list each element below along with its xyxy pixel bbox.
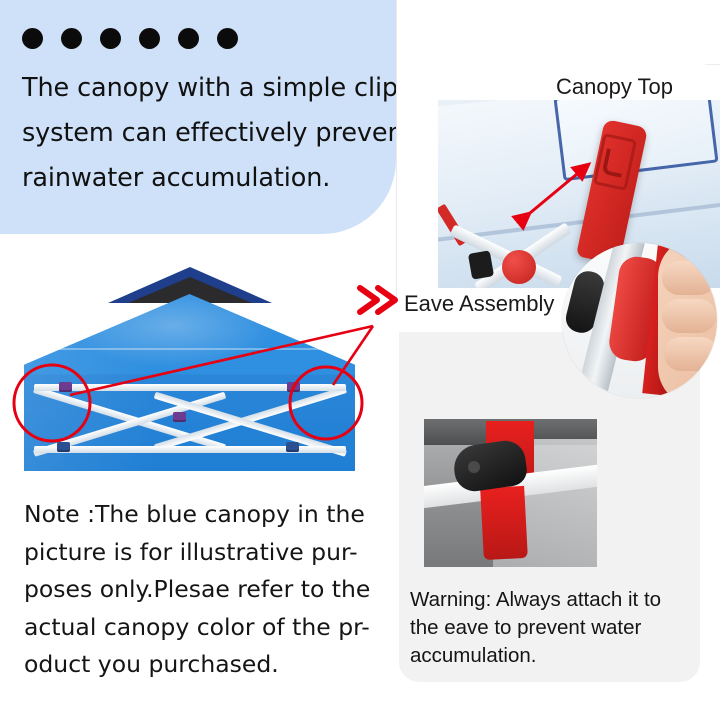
canopy-clip (286, 442, 299, 452)
bullet-dot-icon (178, 28, 199, 49)
headline-line-1: The canopy with a simple clip (22, 66, 394, 111)
canopy-clip (57, 442, 70, 452)
warning-line-2: the eave to prevent water (410, 614, 700, 642)
note-line-4: actual canopy color of the pr- (24, 609, 374, 647)
headline-line-3: rainwater accumulation. (22, 156, 394, 201)
warning-line-1: Warning: Always attach it to (410, 586, 700, 614)
red-strap-lower (480, 486, 528, 560)
warning-photo (424, 419, 597, 567)
canopy-clip (59, 382, 72, 392)
chevron-right-icon (378, 288, 395, 312)
bullet-dot-icon (139, 28, 160, 49)
blue-canopy-photo (24, 264, 355, 471)
eave-assembly-inset-photo (562, 243, 717, 398)
eave-assembly-label: Eave Assembly (404, 291, 554, 317)
warning-text: Warning: Always attach it to the eave to… (410, 586, 700, 670)
inset-finger (662, 261, 716, 295)
note-text: Note :The blue canopy in the picture is … (24, 496, 374, 684)
bullet-dot-icon (22, 28, 43, 49)
note-line-5: oduct you purchased. (24, 646, 374, 684)
black-clip-part (468, 250, 494, 279)
canopy-clip (287, 382, 300, 392)
canopy-clip (173, 412, 186, 422)
black-clip-hole (468, 461, 480, 473)
inset-finger (662, 299, 716, 333)
note-line-3: poses only.Plesae refer to the (24, 571, 374, 609)
bullet-dot-icon (217, 28, 238, 49)
warning-line-3: accumulation. (410, 642, 700, 670)
bullet-dot-icon (100, 28, 121, 49)
headline-text: The canopy with a simple clip system can… (22, 66, 394, 201)
truss-bar-horizontal (34, 446, 346, 453)
note-line-1: Note :The blue canopy in the (24, 496, 374, 534)
note-line-2: picture is for illustrative pur- (24, 534, 374, 572)
blue-roof-seam (24, 348, 355, 350)
bullet-dots-row (22, 28, 238, 49)
inset-finger (664, 337, 717, 371)
header-banner: The canopy with a simple clip system can… (0, 0, 396, 234)
canopy-top-label: Canopy Top (556, 74, 673, 100)
headline-line-2: system can effectively prevent (22, 111, 394, 156)
red-knob (502, 250, 536, 284)
product-infographic: The canopy with a simple clip system can… (0, 0, 720, 720)
chevron-right-icon (360, 288, 377, 312)
column-divider (396, 0, 397, 300)
bullet-dot-icon (61, 28, 82, 49)
